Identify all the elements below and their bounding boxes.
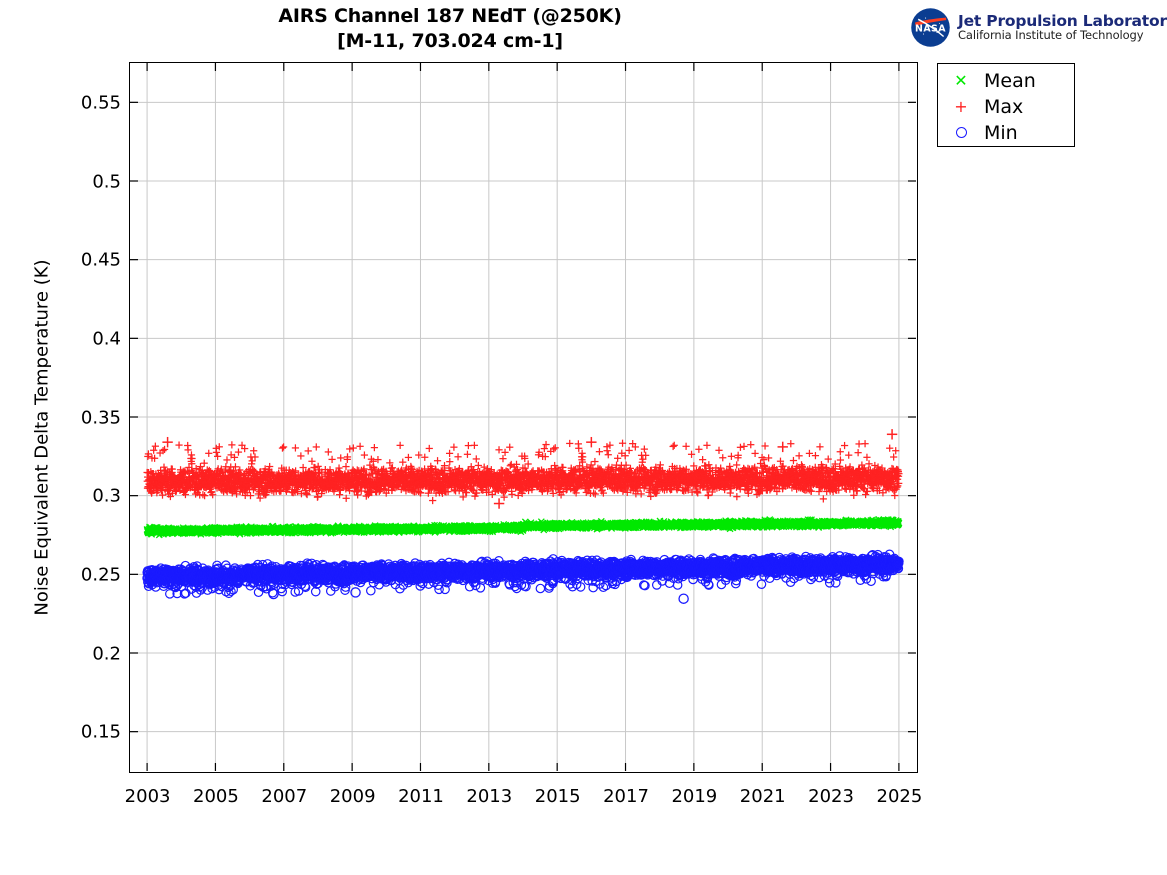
x-tick-label: 2005 — [193, 786, 239, 807]
legend: ✕ Mean + Max Min — [937, 63, 1075, 147]
x-tick-label: 2003 — [125, 786, 171, 807]
x-tick-label: 2011 — [398, 786, 444, 807]
grid-lines — [130, 63, 916, 771]
legend-marker-max-icon: + — [938, 99, 984, 115]
legend-label-mean: Mean — [984, 70, 1036, 92]
jpl-title-text: Jet Propulsion Laboratory — [958, 13, 1167, 29]
plot-canvas — [130, 63, 916, 771]
series-max — [143, 429, 902, 509]
y-tick-label: 0.2 — [51, 643, 121, 664]
nasa-meatball-icon: NASA — [910, 7, 951, 48]
y-axis-tick-labels: 0.150.20.250.30.350.40.450.50.55 — [45, 62, 121, 773]
series-min — [143, 550, 903, 603]
svg-text:NASA: NASA — [915, 23, 946, 34]
x-axis-tick-labels: 2003200520072009201120132015201720192021… — [129, 786, 918, 812]
y-tick-label: 0.25 — [51, 564, 121, 585]
nasa-jpl-logo: NASA Jet Propulsion Laboratory Californi… — [910, 6, 1160, 48]
x-tick-label: 2021 — [740, 786, 786, 807]
x-tick-label: 2009 — [330, 786, 376, 807]
x-tick-label: 2013 — [466, 786, 512, 807]
x-tick-label: 2025 — [877, 786, 923, 807]
y-tick-label: 0.35 — [51, 407, 121, 428]
legend-marker-min-icon — [938, 125, 984, 141]
x-tick-label: 2019 — [671, 786, 717, 807]
chart-title-line1: AIRS Channel 187 NEdT (@250K) — [278, 5, 621, 27]
y-tick-label: 0.15 — [51, 722, 121, 743]
x-tick-label: 2017 — [603, 786, 649, 807]
y-tick-label: 0.4 — [51, 328, 121, 349]
legend-label-max: Max — [984, 96, 1023, 118]
legend-entry-min: Min — [938, 120, 1074, 146]
chart-title: AIRS Channel 187 NEdT (@250K) [M-11, 703… — [0, 4, 900, 54]
x-tick-label: 2023 — [808, 786, 854, 807]
legend-entry-max: + Max — [938, 94, 1074, 120]
series-mean — [144, 516, 902, 537]
legend-marker-mean-icon: ✕ — [938, 73, 984, 89]
legend-label-min: Min — [984, 122, 1018, 144]
legend-entry-mean: ✕ Mean — [938, 68, 1074, 94]
y-tick-label: 0.45 — [51, 250, 121, 271]
x-tick-label: 2015 — [535, 786, 581, 807]
y-tick-label: 0.5 — [51, 171, 121, 192]
jpl-subtitle-text: California Institute of Technology — [958, 29, 1167, 41]
y-tick-label: 0.55 — [51, 92, 121, 113]
x-tick-label: 2007 — [261, 786, 307, 807]
plot-area — [129, 62, 918, 773]
y-tick-label: 0.3 — [51, 486, 121, 507]
chart-title-line2: [M-11, 703.024 cm-1] — [0, 29, 900, 54]
